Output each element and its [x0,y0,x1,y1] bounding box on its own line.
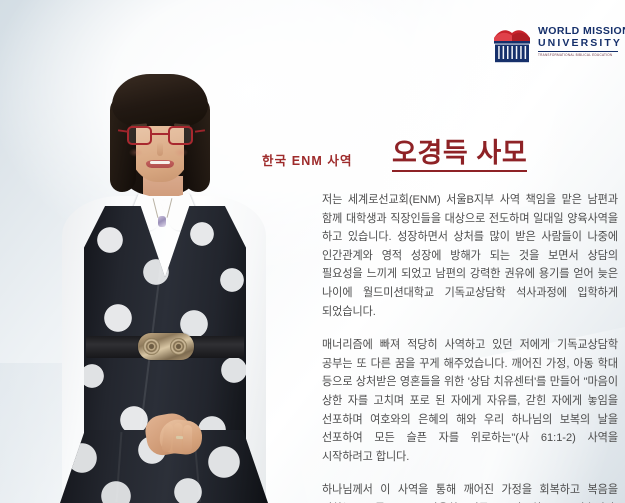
buckle-rosette-right [170,338,187,355]
eyeglasses-lens-left [127,126,152,145]
paragraph-3: 하나님께서 이 사역을 통해 깨어진 가정을 회복하고 복음을 전하는 통로로 … [322,481,618,503]
buckle-rosette-left [143,338,160,355]
logo-tagline: TRANSFORMATIONAL BIBLICAL EDUCATION [538,53,620,57]
eyeglasses-lens-right [168,126,193,145]
necklace-pendant [158,216,166,227]
open-book-logo-icon [492,26,532,64]
logo-wordmark: WORLD MISSION UNIVERSITY TRANSFORMATIONA… [538,25,620,57]
testimonial-body: 저는 세계로선교회(ENM) 서울B지부 사역 책임을 맡은 남편과 함께 대학… [322,191,618,503]
cheek-left [129,148,143,157]
finger-ring [176,436,183,439]
portrait-photo [0,0,318,503]
hair-fringe [112,74,208,126]
logo-line-university: UNIVERSITY [538,37,620,49]
finger-third [183,425,192,452]
cheek-right [174,148,188,157]
university-logo[interactable]: WORLD MISSION UNIVERSITY TRANSFORMATIONA… [492,24,618,68]
logo-divider-rule [538,51,618,52]
title-row: 한국 ENM 사역 오경득 사모 [262,138,562,180]
eyeglasses-bridge [152,133,168,135]
logo-line-world-mission: WORLD MISSION [538,25,620,37]
page-title: 오경득 사모 [392,138,527,172]
testimonial-slide: WORLD MISSION UNIVERSITY TRANSFORMATIONA… [0,0,625,503]
teeth [150,161,170,164]
paragraph-2: 매너리즘에 빠져 적당히 사역하고 있던 저에게 기독교상담학 공부는 또 다른… [322,336,618,466]
paragraph-1: 저는 세계로선교회(ENM) 서울B지부 사역 책임을 맡은 남편과 함께 대학… [322,191,618,321]
nose [157,142,163,156]
ministry-kicker: 한국 ENM 사역 [262,150,353,169]
